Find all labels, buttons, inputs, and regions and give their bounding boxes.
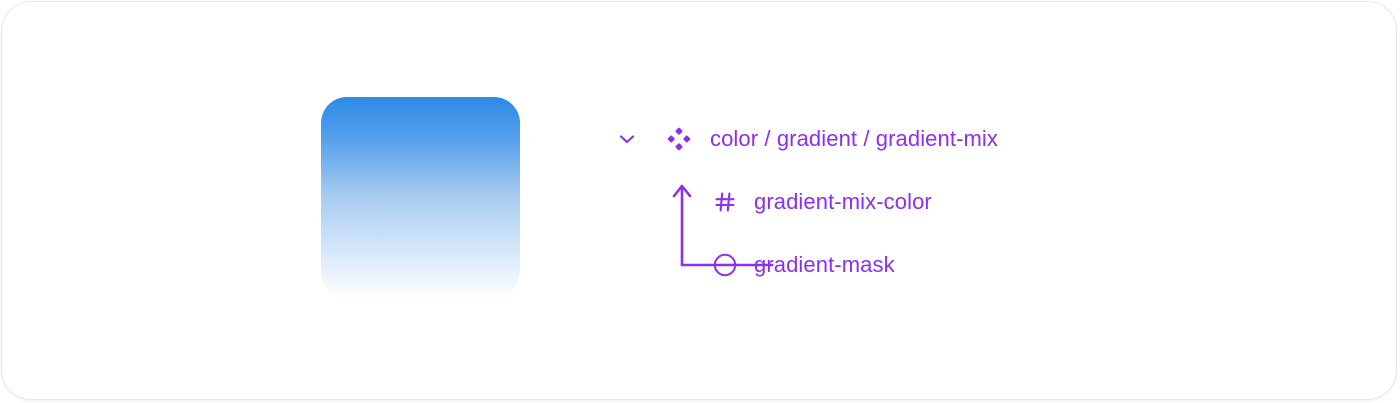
tree-row-gradient-mask[interactable]: gradient-mask xyxy=(710,244,895,286)
tree-row-root-label: color / gradient / gradient-mix xyxy=(710,125,998,153)
contrast-circle-icon xyxy=(710,250,740,280)
layer-tree: color / gradient / gradient-mix gradient… xyxy=(612,118,1132,298)
tree-row-gradient-mask-label: gradient-mask xyxy=(754,251,895,279)
gradient-preview-swatch[interactable] xyxy=(321,97,520,297)
hash-icon xyxy=(710,187,740,217)
tree-row-gradient-mix-color[interactable]: gradient-mix-color xyxy=(710,181,932,223)
chevron-down-icon[interactable] xyxy=(612,124,642,154)
gradient-swatch-svg xyxy=(321,97,520,297)
screen-root: color / gradient / gradient-mix gradient… xyxy=(0,0,1400,403)
component-set-icon xyxy=(664,124,694,154)
tree-row-gradient-mix-color-label: gradient-mix-color xyxy=(754,188,932,216)
tree-row-root[interactable]: color / gradient / gradient-mix xyxy=(612,118,998,160)
